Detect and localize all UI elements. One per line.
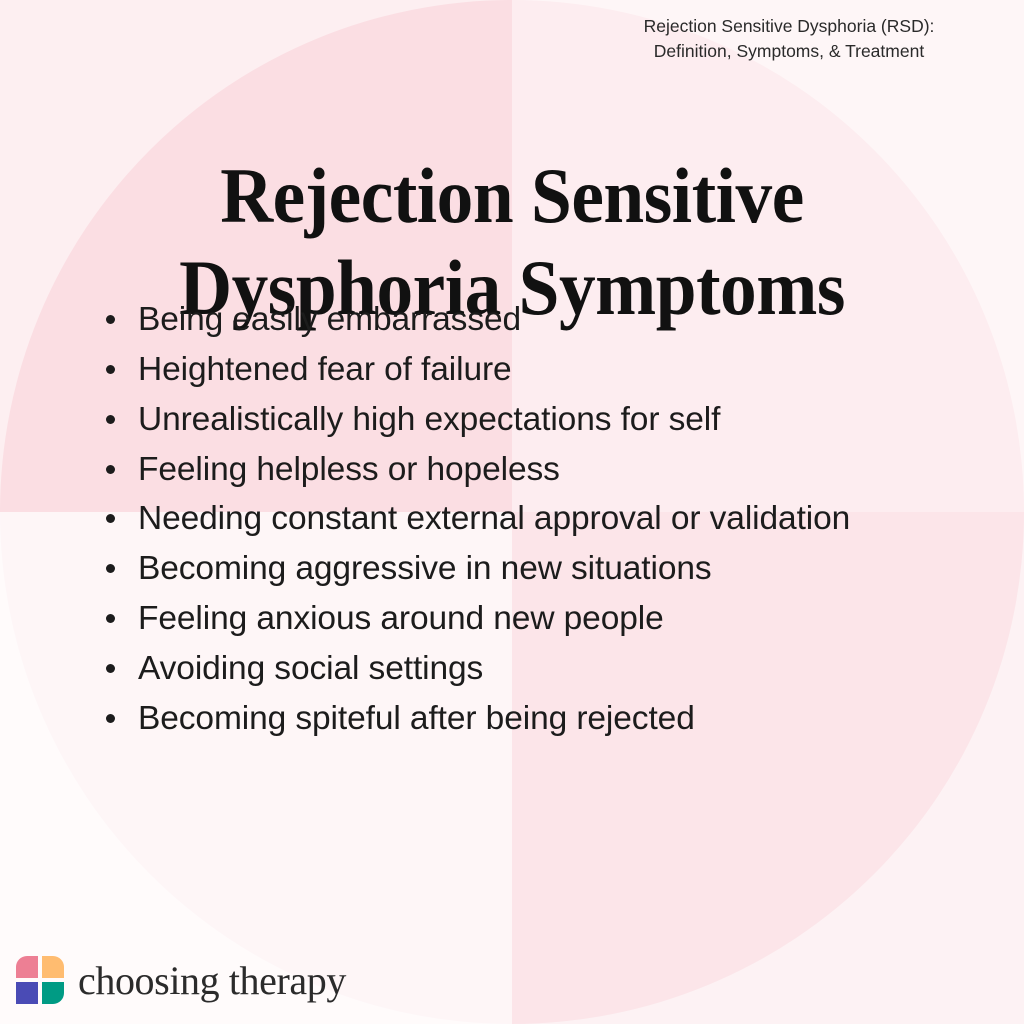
symptom-list-item-label: Becoming aggressive in new situations [138,550,712,587]
symptom-list-item: Becoming aggressive in new situations [96,549,952,588]
article-kicker: Rejection Sensitive Dysphoria (RSD): Def… [574,14,1004,64]
symptom-list-item: Avoiding social settings [96,649,952,688]
choosing-therapy-logo-icon [16,956,64,1004]
symptom-list-item: Unrealistically high expectations for se… [96,400,952,439]
symptom-list-item: Becoming spiteful after being rejected [96,699,952,738]
symptom-list: Being easily embarrassedHeightened fear … [96,300,952,749]
symptom-list-item-label: Needing constant external approval or va… [138,500,850,537]
bullet-dot-icon [106,614,115,623]
logo-quadrant-orange-icon [42,956,64,978]
article-kicker-line-2: Definition, Symptoms, & Treatment [574,39,1004,64]
symptom-list-item-label: Feeling anxious around new people [138,600,664,637]
page-title-line-1: Rejection Sensitive [31,150,994,242]
symptom-list-item: Needing constant external approval or va… [96,499,952,538]
symptom-list-item: Heightened fear of failure [96,350,952,389]
symptom-list-item: Feeling anxious around new people [96,599,952,638]
symptom-list-item: Being easily embarrassed [96,300,952,339]
symptom-list-item-label: Feeling helpless or hopeless [138,451,560,488]
logo-quadrant-teal-icon [42,982,64,1004]
article-kicker-line-1: Rejection Sensitive Dysphoria (RSD): [574,14,1004,39]
bullet-dot-icon [106,514,115,523]
symptom-list-item-label: Avoiding social settings [138,650,483,687]
symptom-list-item-label: Unrealistically high expectations for se… [138,401,720,438]
bullet-dot-icon [106,315,115,324]
bullet-dot-icon [106,415,115,424]
symptom-list-item-label: Being easily embarrassed [138,301,521,338]
symptom-list-item-label: Heightened fear of failure [138,351,512,388]
bullet-dot-icon [106,664,115,673]
infographic-canvas: Rejection Sensitive Dysphoria (RSD): Def… [0,0,1024,1024]
symptom-list-item-label: Becoming spiteful after being rejected [138,700,695,737]
symptom-list-item: Feeling helpless or hopeless [96,450,952,489]
bullet-dot-icon [106,714,115,723]
brand-wordmark: choosing therapy [78,957,346,1004]
logo-quadrant-indigo-icon [16,982,38,1004]
logo-quadrant-pink-icon [16,956,38,978]
brand-logo: choosing therapy [16,956,346,1004]
bullet-dot-icon [106,365,115,374]
bullet-dot-icon [106,465,115,474]
bullet-dot-icon [106,564,115,573]
